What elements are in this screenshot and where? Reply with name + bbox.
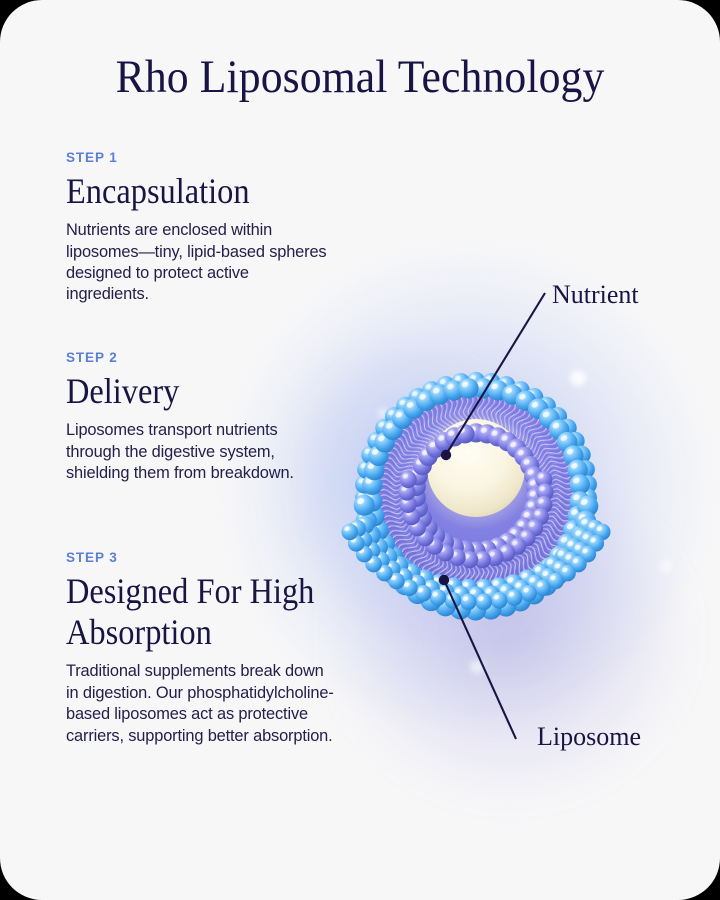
- step-kicker-1: STEP 1: [66, 150, 334, 165]
- step-body-1: Nutrients are enclosed within liposomes—…: [66, 220, 334, 306]
- callout-label-liposome: Liposome: [537, 722, 641, 752]
- sparkle-dot: [660, 560, 672, 572]
- page-title: Rho Liposomal Technology: [25, 52, 695, 103]
- step-item-2: STEP 2 Delivery Liposomes transport nutr…: [66, 350, 334, 484]
- step-item-3: STEP 3 Designed For High Absorption Trad…: [66, 550, 338, 747]
- callout-label-nutrient: Nutrient: [552, 280, 639, 310]
- infographic-card: Rho Liposomal Technology STEP 1 Encapsul…: [0, 0, 720, 900]
- liposome-illustration: [332, 330, 632, 660]
- step-kicker-3: STEP 3: [66, 550, 338, 565]
- step-kicker-2: STEP 2: [66, 350, 334, 365]
- step-body-2: Liposomes transport nutrients through th…: [66, 420, 334, 484]
- sparkle-dot: [470, 660, 484, 674]
- step-item-1: STEP 1 Encapsulation Nutrients are enclo…: [66, 150, 334, 306]
- step-body-3: Traditional supplements break down in di…: [66, 661, 338, 747]
- step-heading-2: Delivery: [66, 371, 334, 412]
- step-heading-1: Encapsulation: [66, 171, 334, 212]
- step-heading-3: Designed For High Absorption: [66, 571, 338, 653]
